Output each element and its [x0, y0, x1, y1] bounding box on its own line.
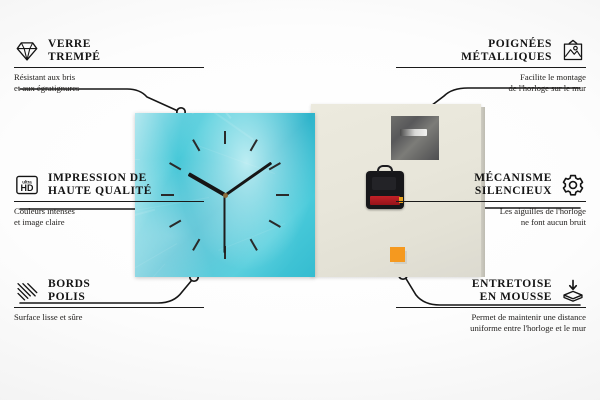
feature-header: BORDS POLIS — [14, 278, 204, 304]
ultra-hd-icon: ultra HD — [14, 172, 40, 198]
feature-description: Facilite le montage de l'horloge sur le … — [396, 72, 586, 93]
diamond-icon — [14, 38, 40, 64]
feature-divider — [14, 307, 204, 308]
gear-icon — [560, 172, 586, 198]
feature-title: VERRE TREMPÉ — [48, 38, 101, 63]
feature-header: ultra HD IMPRESSION DE HAUTE QUALITÉ — [14, 172, 204, 198]
mechanism-body-detail — [372, 177, 396, 190]
feature-title: IMPRESSION DE HAUTE QUALITÉ — [48, 172, 152, 197]
minute-hand — [224, 162, 272, 197]
feature-impression-haute-qualite: ultra HD IMPRESSION DE HAUTE QUALITÉ Cou… — [14, 172, 204, 227]
feature-description: Les aiguilles de l'horloge ne font aucun… — [396, 206, 586, 227]
feature-header: VERRE TREMPÉ — [14, 38, 204, 64]
picture-frame-hanger-icon — [560, 38, 586, 64]
second-hand — [224, 195, 226, 253]
hanger-slot — [400, 129, 427, 136]
feature-poignees-metalliques: POIGNÉES MÉTALLIQUES Facilite le montage… — [396, 38, 586, 93]
ultra-hd-icon-large-text: HD — [21, 183, 34, 193]
mechanism-hook — [377, 165, 393, 173]
feature-divider — [396, 201, 586, 202]
feature-divider — [14, 67, 204, 68]
feature-description: Permet de maintenir une distance uniform… — [396, 312, 586, 333]
foam-spacer-pad — [390, 247, 405, 262]
feature-description: Couleurs intenses et image claire — [14, 206, 204, 227]
infographic-canvas: VERRE TREMPÉ Résistant aux bris et aux é… — [0, 0, 600, 400]
feature-verre-trempe: VERRE TREMPÉ Résistant aux bris et aux é… — [14, 38, 204, 93]
feature-header: ENTRETOISE EN MOUSSE — [396, 278, 586, 304]
feature-title: ENTRETOISE EN MOUSSE — [472, 278, 552, 303]
feature-divider — [14, 201, 204, 202]
feature-title: MÉCANISME SILENCIEUX — [474, 172, 552, 197]
feature-description: Surface lisse et sûre — [14, 312, 204, 323]
feature-header: POIGNÉES MÉTALLIQUES — [396, 38, 586, 64]
hands-center-cap — [223, 193, 228, 198]
feature-bords-polis: BORDS POLIS Surface lisse et sûre — [14, 278, 204, 323]
polished-edges-icon — [14, 278, 40, 304]
feature-divider — [396, 307, 586, 308]
feature-mecanisme-silencieux: MÉCANISME SILENCIEUX Les aiguilles de l'… — [396, 172, 586, 227]
feature-title: BORDS POLIS — [48, 278, 90, 303]
feature-title: POIGNÉES MÉTALLIQUES — [461, 38, 552, 63]
feature-description: Résistant aux bris et aux égratignures — [14, 72, 204, 93]
foam-spacer-arrow-icon — [560, 278, 586, 304]
feature-entretoise-en-mousse: ENTRETOISE EN MOUSSE Permet de maintenir… — [396, 278, 586, 333]
feature-divider — [396, 67, 586, 68]
feature-header: MÉCANISME SILENCIEUX — [396, 172, 586, 198]
metal-hanger-plate — [391, 116, 439, 160]
